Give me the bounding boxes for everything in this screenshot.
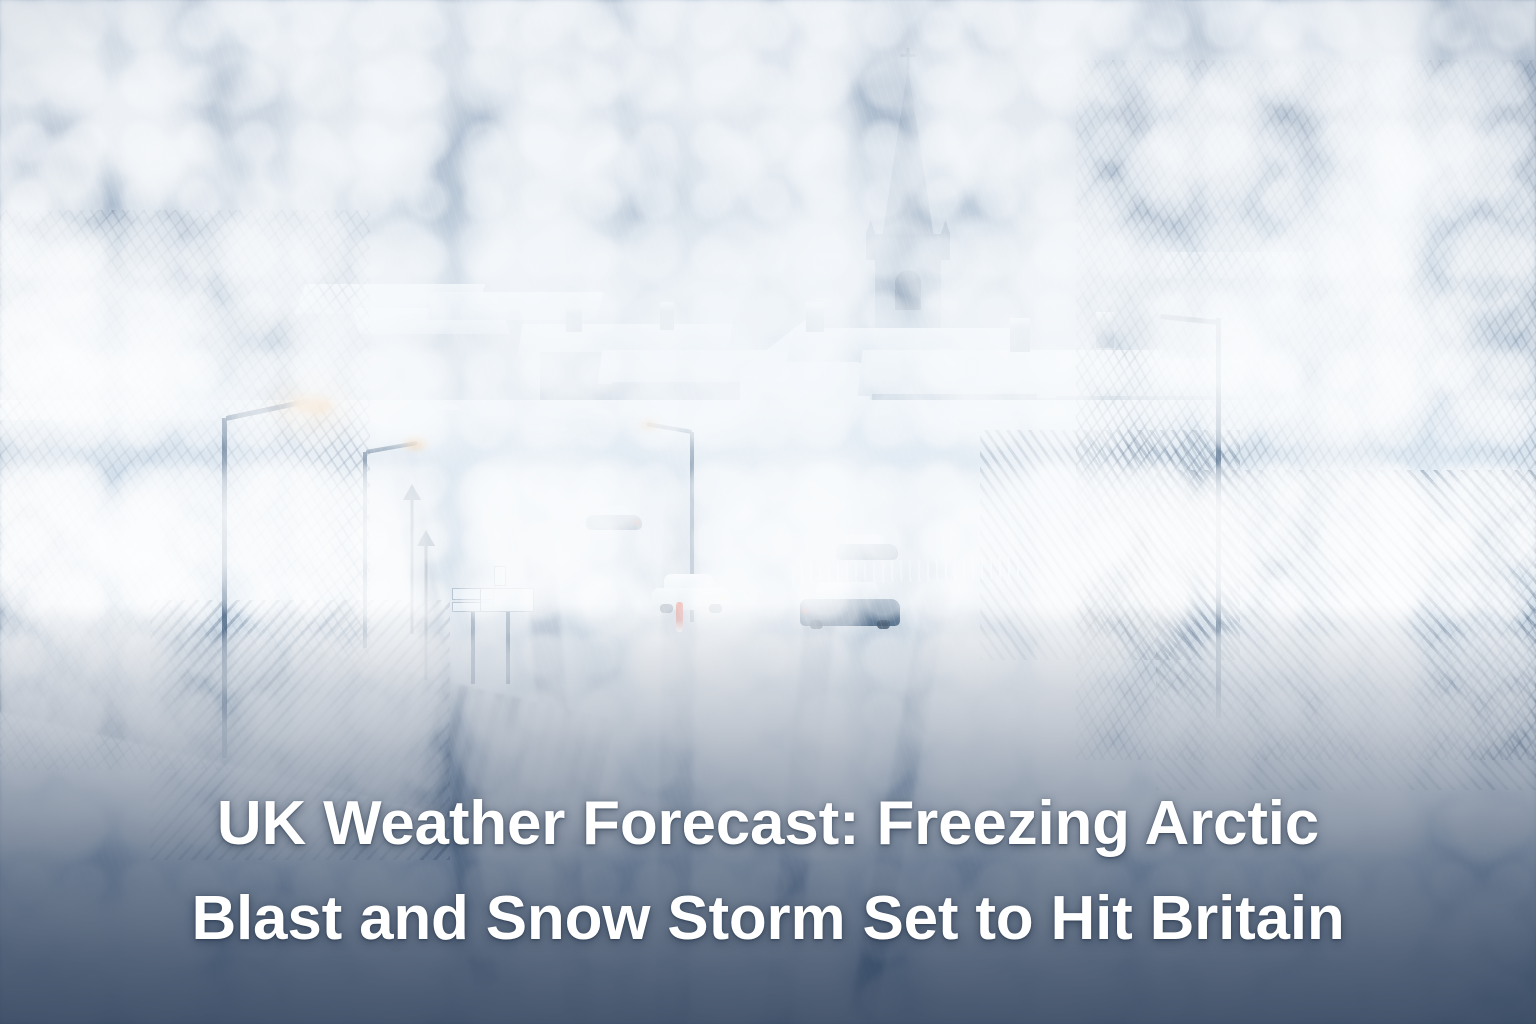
spire-cone: [882, 66, 934, 238]
lamp-halo: [272, 382, 354, 428]
chimney: [1010, 318, 1030, 352]
car-body: [836, 544, 898, 560]
headline-line-1: UK Weather Forecast: Freezing Arctic: [217, 776, 1319, 871]
weather-banner-image: UK Weather Forecast: Freezing Arctic Bla…: [0, 0, 1536, 1024]
headline-line-2: Blast and Snow Storm Set to Hit Britain: [191, 871, 1344, 966]
chimney: [806, 302, 824, 332]
lamp-glow: [640, 420, 660, 429]
lamp-head-icon: [403, 484, 421, 500]
car-taillight: [633, 520, 640, 524]
lamp-head-icon: [417, 530, 435, 546]
headline-block: UK Weather Forecast: Freezing Arctic Bla…: [0, 776, 1536, 966]
sign-plate-upper: [494, 566, 506, 586]
car-headlight: [718, 596, 728, 601]
van-body: [432, 410, 468, 421]
roadside-car-a: [586, 506, 642, 530]
chimney: [660, 302, 674, 330]
roadside-car-b: [836, 534, 898, 560]
chimney: [566, 306, 582, 332]
distant-van: [432, 404, 468, 421]
lamp-glow: [404, 438, 426, 448]
